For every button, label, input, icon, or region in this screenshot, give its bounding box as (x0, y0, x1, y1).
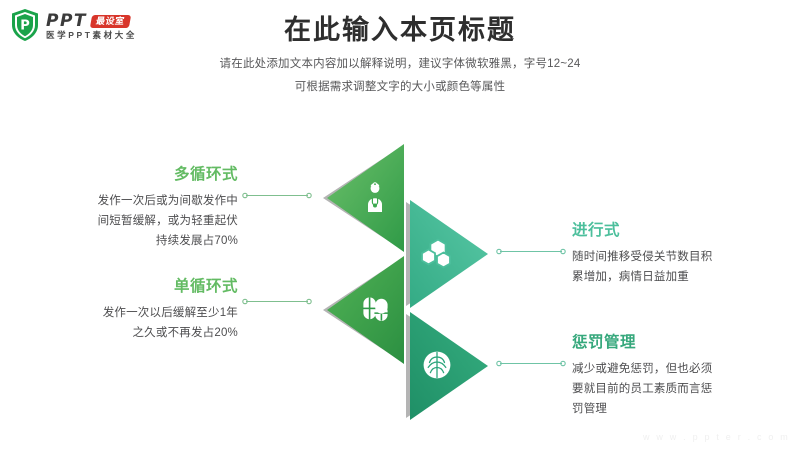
node-body-penalty-line-3: 罚管理 (572, 399, 800, 419)
page-subtitle-line-1: 请在此处添加文本内容加以解释说明，建议字体微软雅黑，字号12~24 (0, 54, 800, 74)
node-body-progressive-line-2: 累增加，病情日益加重 (572, 267, 800, 287)
node-body-progressive-line-1: 随时间推移受侵关节数目积 (572, 247, 800, 267)
connector-single-cycle (242, 298, 312, 305)
node-title-multi-cycle: 多循环式 (8, 166, 238, 185)
page-subtitle-line-2: 可根据需求调整文字的大小或颜色等属性 (0, 77, 800, 97)
site-watermark: w w w . p p t e r . c o m (643, 432, 790, 442)
funnel-diagram: 多循环式 发作一次后或为间歇发作中 间短暂缓解，或为轻重起伏 持续发展占70% (0, 130, 800, 430)
textblock-multi-cycle: 多循环式 发作一次后或为间歇发作中 间短暂缓解，或为轻重起伏 持续发展占70% (8, 166, 238, 251)
node-body-multi-cycle-line-3: 持续发展占70% (8, 231, 238, 251)
molecule-icon (420, 236, 454, 270)
connector-multi-cycle (242, 192, 312, 199)
node-title-penalty-management: 惩罚管理 (572, 334, 800, 353)
node-body-single-cycle-line-1: 发作一次以后缓解至少1年 (8, 303, 238, 323)
node-title-single-cycle: 单循环式 (8, 278, 238, 297)
textblock-progressive: 进行式 随时间推移受侵关节数目积 累增加，病情日益加重 (572, 222, 800, 287)
textblock-penalty-management: 惩罚管理 减少或避免惩罚，但也必须 要就目前的员工素质而言惩 罚管理 (572, 334, 800, 419)
connector-progressive (496, 248, 566, 255)
node-body-multi-cycle-line-1: 发作一次后或为间歇发作中 (8, 191, 238, 211)
brain-icon (420, 348, 454, 382)
node-body-multi-cycle-line-2: 间短暂缓解，或为轻重起伏 (8, 211, 238, 231)
doctor-icon (358, 180, 392, 214)
pills-icon (358, 292, 392, 326)
textblock-single-cycle: 单循环式 发作一次以后缓解至少1年 之久或不再发占20% (8, 278, 238, 343)
node-body-penalty-line-2: 要就目前的员工素质而言惩 (572, 379, 800, 399)
node-body-penalty-line-1: 减少或避免惩罚，但也必须 (572, 359, 800, 379)
node-body-single-cycle-line-2: 之久或不再发占20% (8, 323, 238, 343)
node-title-progressive: 进行式 (572, 222, 800, 241)
connector-penalty-management (496, 360, 566, 367)
slide-canvas: P PPT 最设室 医学PPT素材大全 在此输入本页标题 请在此处添加文本内容加… (0, 0, 800, 450)
slide-header: 在此输入本页标题 请在此处添加文本内容加以解释说明，建议字体微软雅黑，字号12~… (0, 14, 800, 97)
page-title: 在此输入本页标题 (0, 14, 800, 46)
